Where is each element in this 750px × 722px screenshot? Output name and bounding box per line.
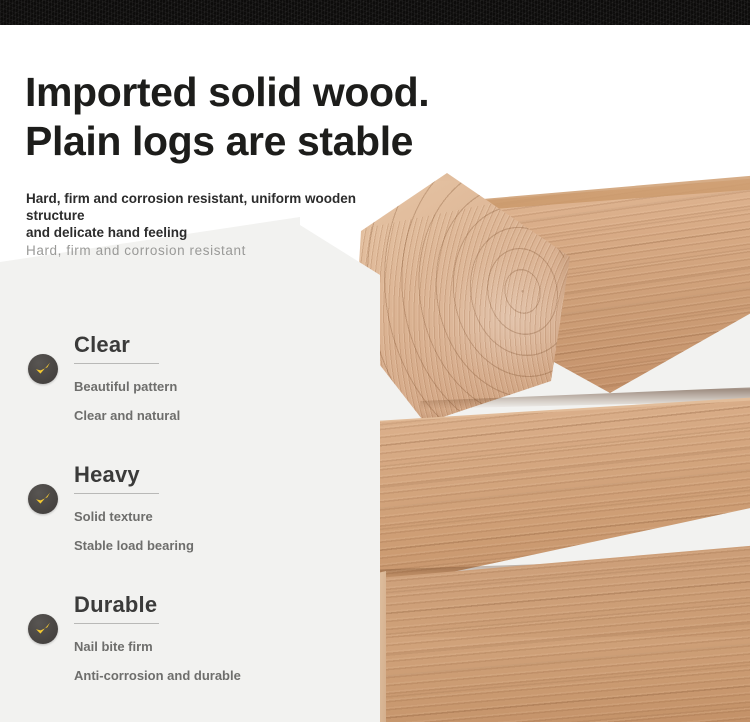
feature-description-line-2: Anti-corrosion and durable [74,667,324,684]
check-badge-icon [28,614,58,644]
feature-description-line-2: Clear and natural [74,407,324,424]
check-badge-icon [28,354,58,384]
feature-description-line-1: Solid texture [74,508,324,525]
feature-body: Durable Nail bite firm Anti-corrosion an… [74,592,324,684]
feature-title: Durable [74,592,324,618]
check-badge-icon [28,484,58,514]
feature-divider [74,493,159,494]
page-content: Imported solid wood. Plain logs are stab… [0,0,750,722]
page-title: Imported solid wood. Plain logs are stab… [25,68,429,166]
feature-divider [74,363,159,364]
hero-subtitle-primary: Hard, firm and corrosion resistant, unif… [26,190,416,241]
hero-subtitle: Hard, firm and corrosion resistant, unif… [26,190,416,259]
feature-description-line-1: Nail bite firm [74,638,324,655]
feature-divider [74,623,159,624]
feature-body: Clear Beautiful pattern Clear and natura… [74,332,324,424]
feature-description-line-1: Beautiful pattern [74,378,324,395]
feature-body: Heavy Solid texture Stable load bearing [74,462,324,554]
hero-subtitle-secondary: Hard, firm and corrosion resistant [26,242,416,259]
product-detail-page: Imported solid wood. Plain logs are stab… [0,0,750,722]
feature-title: Heavy [74,462,324,488]
feature-description-line-2: Stable load bearing [74,537,324,554]
feature-title: Clear [74,332,324,358]
